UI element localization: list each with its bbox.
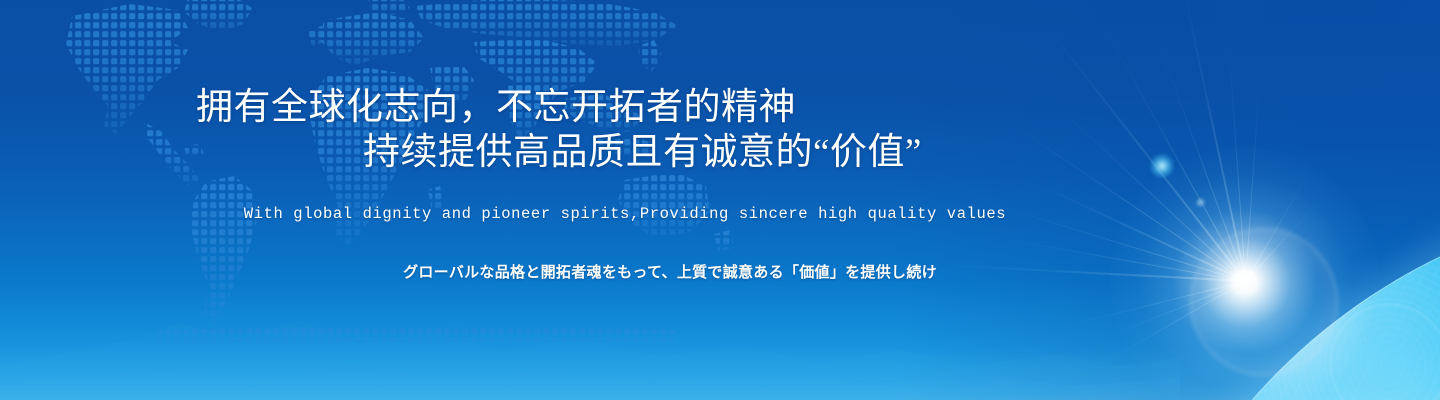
lens-flare-ring-icon: [1190, 228, 1338, 376]
atmosphere-arcs: [1106, 198, 1440, 400]
lens-flare-ghost-small-icon: [1196, 198, 1205, 207]
mountain-silhouette-icon: [0, 280, 1180, 400]
earth-limb-icon: [1106, 198, 1440, 400]
subtitle-english: With global dignity and pioneer spirits,…: [0, 205, 1250, 223]
lens-flare-ghost-icon: [1150, 154, 1174, 178]
headline-line-2: 持续提供高品质且有诚意的“价值”: [363, 129, 922, 177]
limb-highlight: [1106, 198, 1440, 400]
cloud-texture: [1106, 198, 1440, 400]
dotted-world-map: [38, 0, 738, 344]
bottom-glow: [0, 280, 1440, 400]
hero-banner: 拥有全球化志向，不忘开拓者的精神 持续提供高品质且有诚意的“价值” With g…: [0, 0, 1440, 400]
atmosphere-halo-icon: [1094, 186, 1440, 400]
banner-copy: 拥有全球化志向，不忘开拓者的精神 持续提供高品质且有诚意的“价值” With g…: [0, 0, 1080, 400]
subtitle-japanese: グローバルな品格と開拓者魂をもって、上質で誠意ある「価値」を提供し続け: [0, 261, 1340, 282]
headline-line-1: 拥有全球化志向，不忘开拓者的精神: [196, 84, 796, 132]
sky-gradient-overlay: [0, 0, 1440, 400]
planet-scene: [0, 0, 1440, 400]
